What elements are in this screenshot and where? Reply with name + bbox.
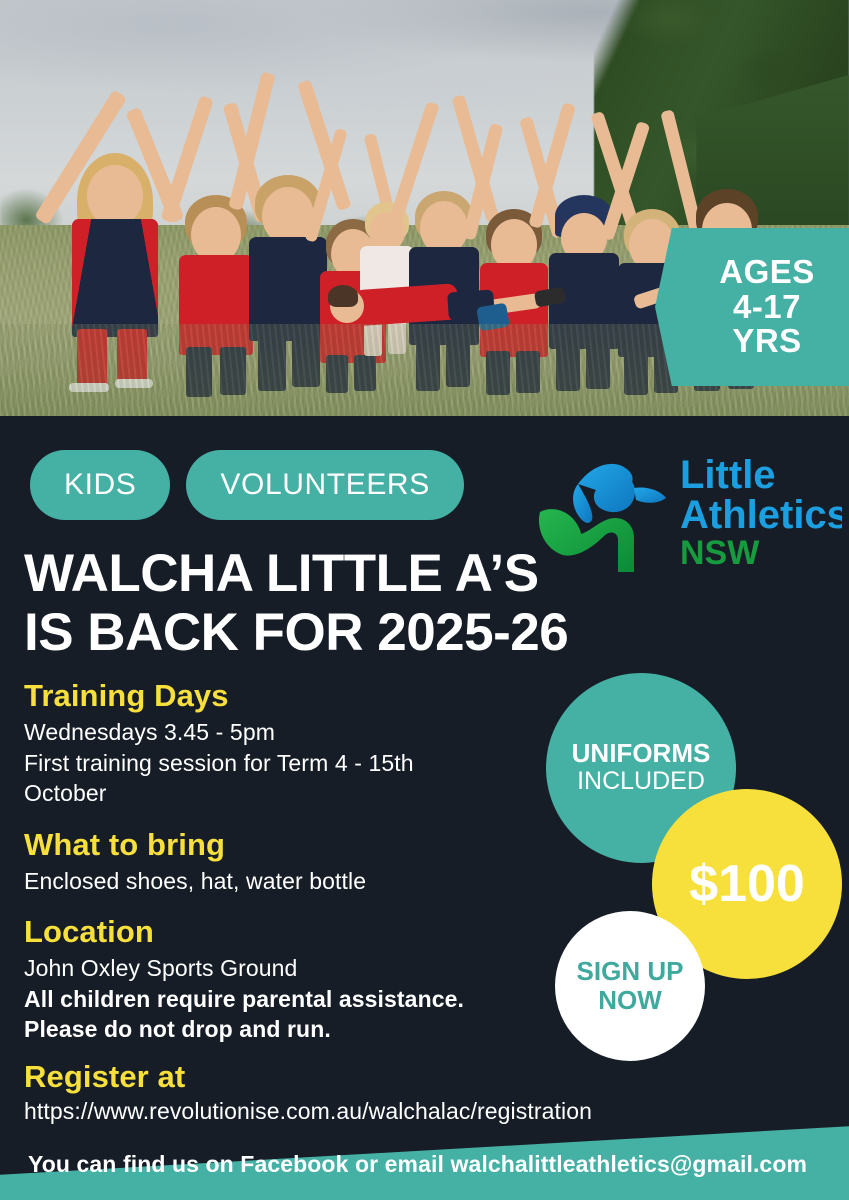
section-line: John Oxley Sports Ground <box>24 953 524 984</box>
registration-url[interactable]: https://www.revolutionise.com.au/walchal… <box>24 1098 524 1125</box>
badge-uniforms-line-1: UNIFORMS <box>572 740 711 767</box>
audience-pills: KIDS VOLUNTEERS <box>30 450 464 520</box>
ages-banner: AGES 4-17 YRS <box>655 228 849 386</box>
title-line-1: WALCHA LITTLE A’S <box>24 544 624 603</box>
section-line: First training session for Term 4 - 15th <box>24 748 524 779</box>
badge-cluster: UNIFORMS INCLUDED $100 SIGN UP NOW <box>520 661 849 1061</box>
pill-volunteers[interactable]: VOLUNTEERS <box>186 450 463 520</box>
badge-signup-line-2: NOW <box>598 986 662 1015</box>
footer-contact-text: You can find us on Facebook or email wal… <box>28 1151 828 1178</box>
ages-line-1: AGES <box>719 255 815 290</box>
poster: AGES 4-17 YRS KIDS VOLUNTEERS <box>0 0 849 1200</box>
content-area: KIDS VOLUNTEERS <box>0 416 849 1200</box>
section-heading: What to bring <box>24 827 524 863</box>
title-line-2: IS BACK FOR 2025-26 <box>24 603 624 662</box>
section-what-to-bring: What to bring Enclosed shoes, hat, water… <box>24 827 524 897</box>
page-title: WALCHA LITTLE A’S IS BACK FOR 2025-26 <box>24 544 624 663</box>
badge-uniforms-line-2: INCLUDED <box>577 767 705 796</box>
pill-kids[interactable]: KIDS <box>30 450 170 520</box>
section-line: October <box>24 778 524 809</box>
section-heading: Register at <box>24 1059 524 1095</box>
section-register: Register at https://www.revolutionise.co… <box>24 1059 524 1125</box>
section-training-days: Training Days Wednesdays 3.45 - 5pm Firs… <box>24 678 524 809</box>
section-heading: Training Days <box>24 678 524 714</box>
section-heading: Location <box>24 914 524 950</box>
section-line: Please do not drop and run. <box>24 1014 524 1045</box>
section-line: All children require parental assistance… <box>24 984 524 1015</box>
hero-photo: AGES 4-17 YRS <box>0 0 849 416</box>
badge-sign-up-now[interactable]: SIGN UP NOW <box>555 911 705 1061</box>
section-line: Enclosed shoes, hat, water bottle <box>24 866 524 897</box>
logo-word-nsw: NSW <box>680 534 760 572</box>
badge-price-value: $100 <box>689 854 805 914</box>
logo-word-athletics: Athletics <box>680 493 842 537</box>
section-line: Wednesdays 3.45 - 5pm <box>24 717 524 748</box>
details-list: Training Days Wednesdays 3.45 - 5pm Firs… <box>24 678 524 1143</box>
badge-signup-line-1: SIGN UP <box>577 957 684 986</box>
section-location: Location John Oxley Sports Ground All ch… <box>24 914 524 1045</box>
ages-line-2: 4-17 <box>733 290 801 325</box>
logo-word-little: Little <box>680 453 776 497</box>
ages-line-3: YRS <box>732 324 801 359</box>
